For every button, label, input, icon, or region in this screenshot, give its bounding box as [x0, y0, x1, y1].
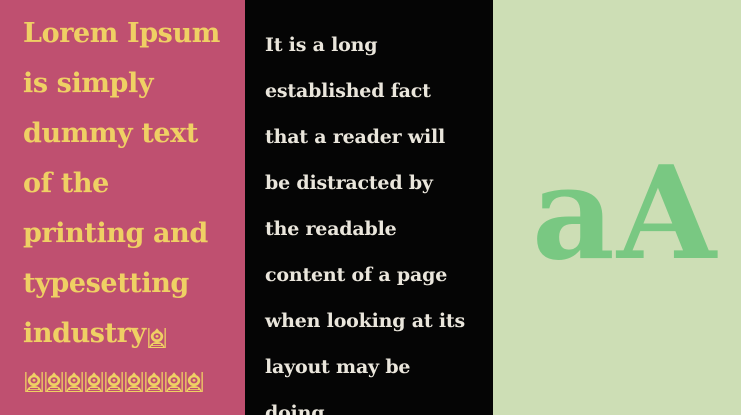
paragraph-line: content of a page	[265, 252, 480, 298]
paragraph-line: It is a long	[265, 22, 480, 68]
paragraph-line: layout may be	[265, 344, 480, 390]
headline-line-text: industry	[23, 318, 146, 349]
paragraph-line: when looking at its	[265, 298, 480, 344]
paragraph-line: established fact	[265, 68, 480, 114]
aa-sample-text: aA	[532, 150, 718, 278]
font-specimen-card: Lorem Ipsum is simply dummy text of the …	[0, 0, 741, 415]
rosette-ornament-icon	[124, 371, 144, 393]
rosette-ornament-icon	[184, 371, 204, 393]
left-headline-panel: Lorem Ipsum is simply dummy text of the …	[0, 0, 245, 415]
rosette-ornament-icon	[104, 371, 124, 393]
rosette-ornament-icon	[144, 371, 164, 393]
headline-line: printing and	[23, 209, 233, 259]
rosette-ornament-icon	[164, 371, 184, 393]
paragraph-line: be distracted by	[265, 160, 480, 206]
headline-line: dummy text	[23, 109, 233, 159]
paragraph-line: the readable	[265, 206, 480, 252]
paragraph-block: It is a long established fact that a rea…	[265, 22, 480, 415]
rosette-ornament-icon	[24, 371, 44, 393]
paragraph-line: doing	[265, 390, 480, 415]
rosette-ornament-icon	[44, 371, 64, 393]
headline-line-last: industry	[23, 309, 233, 362]
headline-line: of the	[23, 159, 233, 209]
aa-sample-container: aA	[493, 0, 741, 415]
headline-block: Lorem Ipsum is simply dummy text of the …	[23, 9, 233, 362]
middle-paragraph-panel: It is a long established fact that a rea…	[245, 0, 493, 415]
headline-line: is simply	[23, 59, 233, 109]
right-sample-panel: aA	[493, 0, 741, 415]
paragraph-line: that a reader will	[265, 114, 480, 160]
headline-line: Lorem Ipsum	[23, 9, 233, 59]
ornament-border	[24, 371, 204, 393]
rosette-ornament-icon	[147, 312, 167, 362]
headline-line: typesetting	[23, 259, 233, 309]
rosette-ornament-icon	[64, 371, 84, 393]
rosette-ornament-icon	[84, 371, 104, 393]
